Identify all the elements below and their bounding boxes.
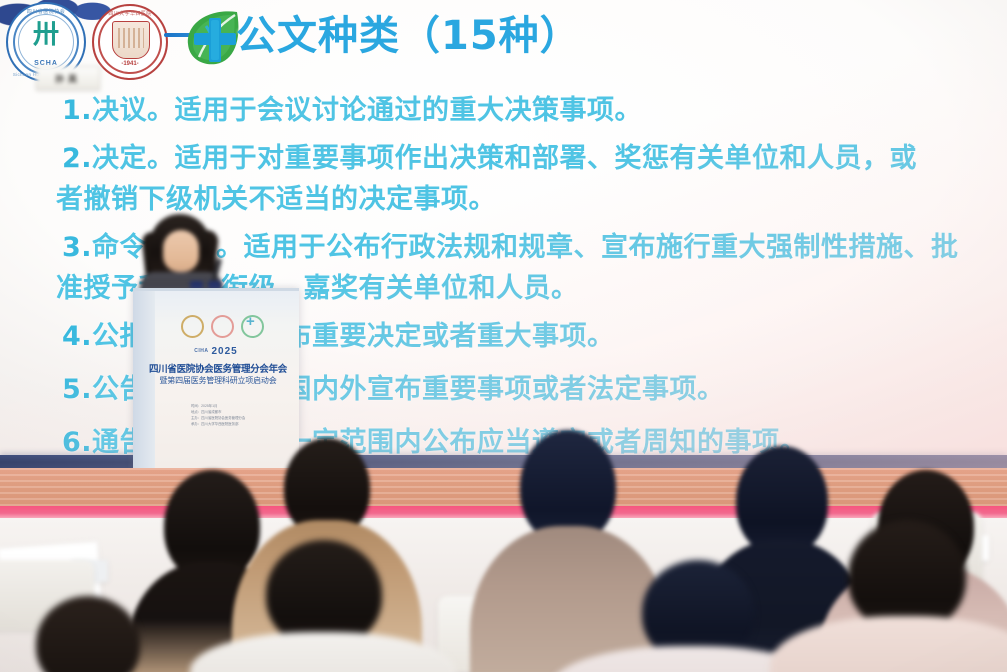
lectern-year: CIHA2025: [133, 346, 299, 357]
slide-line-1: 1.决议。适用于会议讨论通过的重大决策事项。: [0, 90, 1007, 131]
scha-logo-glyph: 卅: [8, 22, 84, 48]
audience-shoulders: [770, 616, 1007, 672]
audience-shoulders: [190, 632, 456, 672]
lectern-logo-2-icon: [211, 315, 234, 338]
scha-logo-ring-text-top: 四川省医院协会: [8, 8, 84, 15]
lectern-event-details: 时间：2025年1月 地点：四川省成都市 主办：四川省医院协会医务管理分会 承办…: [191, 403, 287, 427]
audience-person-front-2: [190, 540, 440, 672]
slide-line-6-number: 6.: [62, 427, 92, 458]
lectern-event-title: 四川省医院协会医务管理分会年会: [137, 361, 299, 375]
speaker-face: [163, 230, 199, 272]
hospital-logo-icon: 四川大学华西医院 -1941-: [92, 4, 168, 80]
lectern-left-edge: [133, 291, 155, 481]
lectern-year-prefix: CIHA: [194, 348, 208, 354]
audience-person-front-4: [790, 520, 1007, 672]
slide-title: 公文种类（15种）: [236, 9, 581, 63]
photo-canvas: 四川省医院协会 卅 SCHA Sichuan Hospital Associat…: [0, 0, 1007, 672]
audience-person-front-1: [0, 596, 200, 672]
lectern-logo-row: [181, 315, 264, 338]
slide-header: 四川省医院协会 卅 SCHA Sichuan Hospital Associat…: [0, 0, 1007, 78]
slide-line-3-text: 适用于公布行政法规和规章、宣布施行重大强制性措施、批: [244, 232, 959, 263]
speaker-name-card: 孙英: [36, 66, 100, 90]
slide-line-5-number: 5.: [62, 374, 92, 405]
slide-line-2-number: 2.: [62, 143, 92, 174]
lectern-year-value: 2025: [211, 346, 237, 357]
slide-line-2-text: 适用于对重要事项作出决策和部署、奖惩有关单位和人员，或: [175, 143, 918, 174]
slide-line-1-term: 决议。: [92, 95, 175, 126]
hospital-logo-shield: [112, 21, 150, 59]
lectern-detail-4: 承办：四川大学华西医院医务部: [191, 421, 287, 427]
speaker-name-card-text: 孙英: [55, 72, 81, 85]
slide-line-1-text: 适用于会议讨论通过的重大决策事项。: [175, 95, 643, 126]
slide-line-2: 2.决定。适用于对重要事项作出决策和部署、奖惩有关单位和人员，或: [0, 138, 1007, 179]
slide-line-1-number: 1.: [62, 95, 92, 126]
audience-head: [36, 596, 140, 672]
hospital-logo-ring-text: 四川大学华西医院: [94, 10, 166, 17]
slide-line-3-number: 3.: [62, 232, 92, 263]
lectern-logo-1-icon: [181, 315, 204, 338]
leaf-cross-emblem-icon: [182, 6, 244, 68]
slide-line-4-number: 4.: [62, 321, 92, 352]
lectern-event-subtitle: 暨第四届医务管理科研立项启动会: [137, 375, 299, 386]
slide-line-2-term: 决定。: [92, 143, 175, 174]
hospital-logo-year: -1941-: [94, 61, 166, 67]
lectern-logo-3-icon: [241, 315, 264, 338]
